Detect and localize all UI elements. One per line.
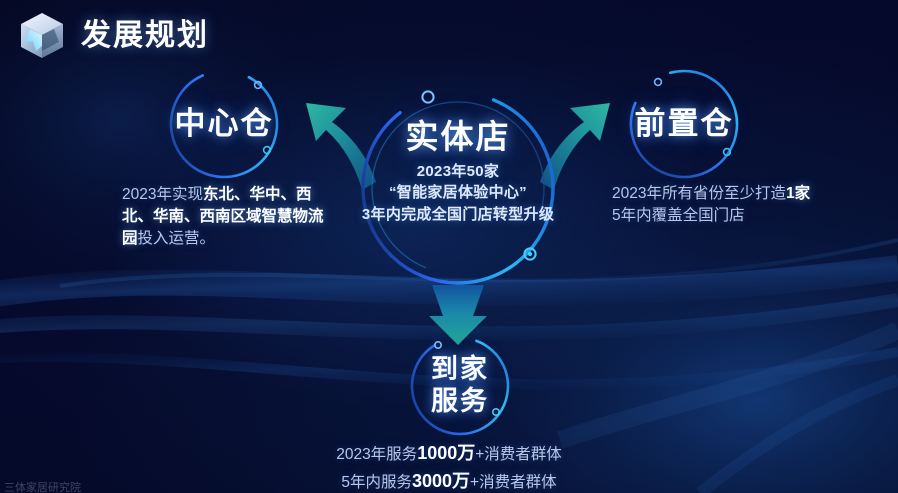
right-description: 2023年所有省份至少打造1家 5年内覆盖全国门店 — [612, 183, 812, 227]
cube-icon — [16, 8, 68, 64]
bottom-copy-line2-suffix: +消费者群体 — [470, 474, 557, 491]
bottom-description: 2023年服务1000万+消费者群体 5年内服务3000万+消费者群体 — [0, 440, 898, 493]
node-left-title: 中心仓 — [162, 62, 286, 186]
bottom-copy-line-2: 5年内服务3000万+消费者群体 — [0, 468, 898, 493]
right-copy-line1-bold: 1家 — [786, 185, 810, 202]
slide-header: 发展规划 — [16, 8, 209, 64]
bottom-copy-line1-bold: 1000万 — [417, 443, 475, 463]
node-left-warehouse[interactable]: 中心仓 — [162, 62, 286, 186]
node-center-title: 实体店 — [406, 120, 511, 154]
left-copy-suffix: 投入运营。 — [138, 230, 216, 247]
node-home-service[interactable]: 到家 服务 — [404, 330, 516, 442]
bottom-copy-line2-bold: 3000万 — [412, 471, 470, 491]
center-sub-line-1: 2023年50家 — [362, 161, 554, 183]
center-sub-line-3: 3年内完成全国门店转型升级 — [362, 204, 554, 226]
node-bottom-title-line-2: 服务 — [431, 386, 489, 418]
left-description: 2023年实现东北、华中、西北、华南、西南区域智慧物流园投入运营。 — [122, 184, 334, 250]
center-sub-line-2: “智能家居体验中心” — [362, 182, 554, 204]
right-copy-line1-prefix: 2023年所有省份至少打造 — [612, 185, 786, 202]
node-center-subtext: 2023年50家 “智能家居体验中心” 3年内完成全国门店转型升级 — [362, 161, 554, 226]
bottom-copy-line1-prefix: 2023年服务 — [336, 446, 417, 463]
page-title: 发展规划 — [81, 21, 209, 51]
node-center-store[interactable]: 实体店 2023年50家 “智能家居体验中心” 3年内完成全国门店转型升级 — [352, 82, 564, 294]
node-right-title: 前置仓 — [622, 62, 746, 186]
watermark-text: 三体家居研究院 — [4, 479, 81, 493]
left-copy-prefix: 2023年实现 — [122, 186, 203, 203]
node-bottom-title-line-1: 到家 — [431, 354, 489, 386]
node-right-warehouse[interactable]: 前置仓 — [622, 62, 746, 186]
right-copy-line2: 5年内覆盖全国门店 — [612, 207, 745, 224]
node-center-content: 实体店 2023年50家 “智能家居体验中心” 3年内完成全国门店转型升级 — [352, 82, 564, 332]
bottom-copy-line1-suffix: +消费者群体 — [475, 446, 562, 463]
bottom-copy-line2-prefix: 5年内服务 — [341, 474, 412, 491]
bottom-copy-line-1: 2023年服务1000万+消费者群体 — [0, 440, 898, 468]
node-bottom-title: 到家 服务 — [404, 330, 516, 442]
slide-canvas: 发展规划 中心仓 2023年实现东北、华中、西北、华南、西南区 — [0, 0, 898, 493]
